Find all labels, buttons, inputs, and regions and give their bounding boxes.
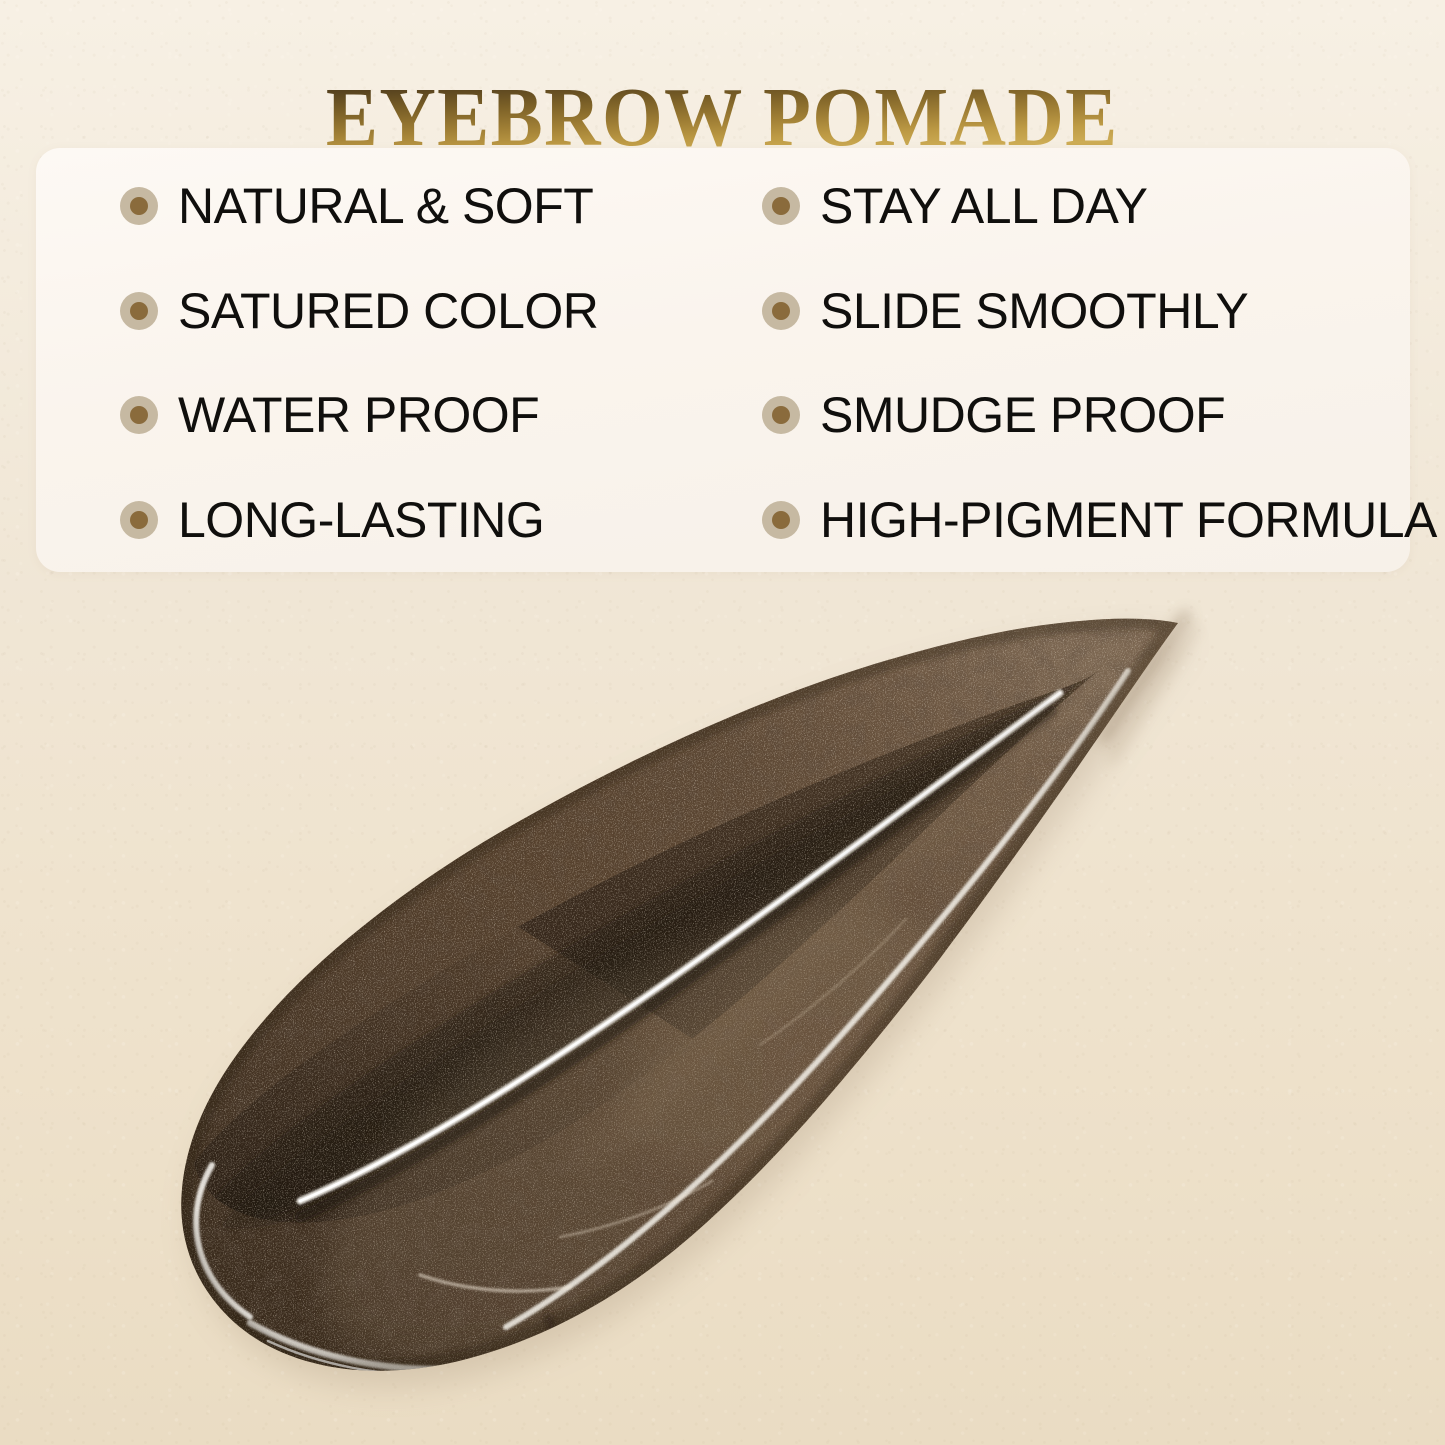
feature-label: SMUDGE PROOF (820, 390, 1225, 440)
bullet-dot-icon (762, 501, 800, 539)
pomade-smear-illustration (0, 575, 1445, 1445)
feature-item-slide-smoothly: SLIDE SMOOTHLY (696, 286, 1410, 336)
feature-label: LONG-LASTING (178, 495, 544, 545)
bullet-dot-icon (120, 396, 158, 434)
bullet-dot-icon (120, 501, 158, 539)
feature-item-long-lasting: LONG-LASTING (36, 495, 696, 545)
bullet-dot-icon (120, 292, 158, 330)
feature-item-satured-color: SATURED COLOR (36, 286, 696, 336)
title-bar: EYEBROW POMADE (0, 18, 1445, 218)
page-title: EYEBROW POMADE (326, 74, 1119, 161)
feature-label: SATURED COLOR (178, 286, 598, 336)
product-swatch-image (0, 575, 1445, 1445)
feature-label: WATER PROOF (178, 390, 539, 440)
feature-label: HIGH-PIGMENT FORMULA (820, 495, 1437, 545)
product-infographic-page: EYEBROW POMADE NATURAL & SOFT STAY ALL D… (0, 0, 1445, 1445)
swatch-texture-group (0, 575, 1445, 1445)
bullet-dot-icon (762, 292, 800, 330)
feature-label: SLIDE SMOOTHLY (820, 286, 1248, 336)
feature-item-water-proof: WATER PROOF (36, 390, 696, 440)
feature-item-smudge-proof: SMUDGE PROOF (696, 390, 1410, 440)
bullet-dot-icon (762, 396, 800, 434)
feature-item-high-pigment-formula: HIGH-PIGMENT FORMULA (696, 495, 1410, 545)
